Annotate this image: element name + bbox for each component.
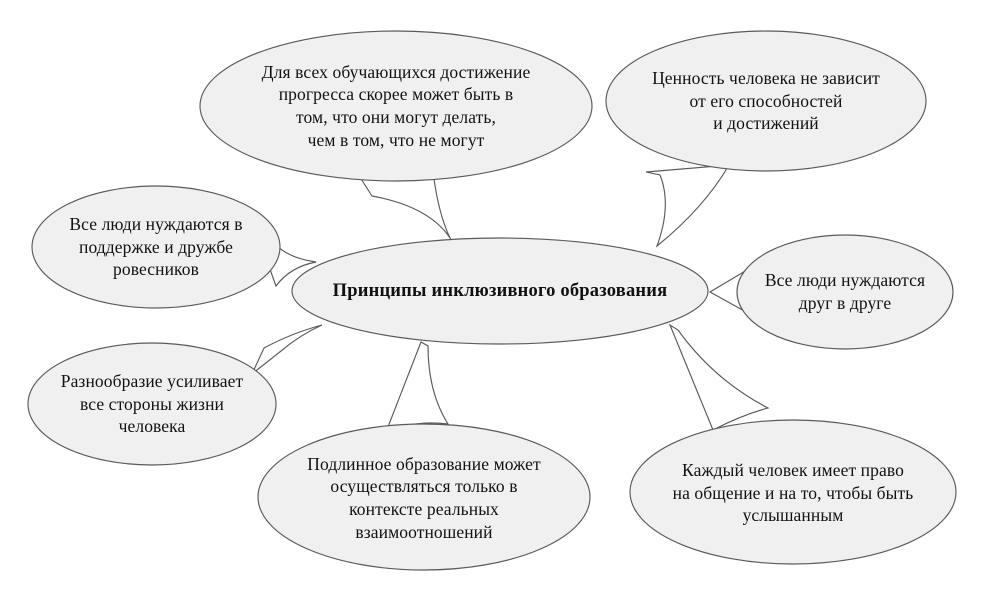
bubble-right[interactable] (737, 235, 953, 349)
diagram-svg (0, 0, 982, 594)
tail-left-lower (252, 325, 322, 374)
bubble-left-upper[interactable] (32, 186, 280, 308)
bubble-top-left[interactable] (200, 31, 592, 181)
diagram-canvas: Для всех обучающихся достижение прогресс… (0, 0, 982, 594)
bubble-center[interactable] (292, 238, 708, 344)
bubble-bottom-left[interactable] (258, 424, 590, 570)
bubble-shapes (28, 31, 956, 570)
bubble-bottom-right[interactable] (630, 420, 956, 564)
bubble-top-right[interactable] (606, 31, 926, 171)
tail-bottom-right (670, 325, 768, 430)
tail-bottom-left (386, 342, 448, 432)
bubble-left-lower[interactable] (28, 343, 276, 465)
tail-top-right (646, 165, 729, 246)
